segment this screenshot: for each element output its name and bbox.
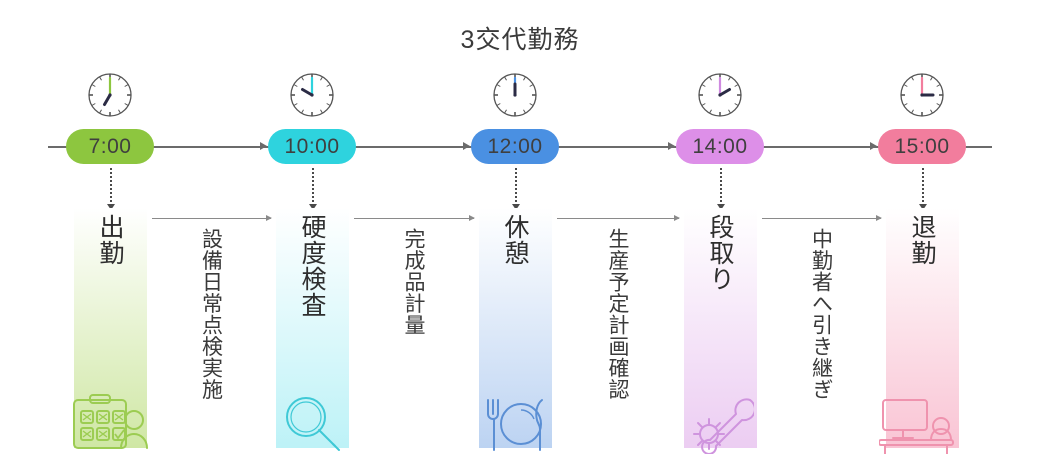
- drop-connector: [312, 168, 314, 206]
- time-badge-10-00[interactable]: 10:00: [268, 129, 356, 164]
- time-badge-7-00[interactable]: 7:00: [66, 129, 154, 164]
- drop-connector: [515, 168, 517, 206]
- clock-icon-10-00: [285, 68, 339, 122]
- clock-icon-14-00: [693, 68, 747, 122]
- stage-panel-label-wrap: 段取り: [684, 214, 757, 292]
- stage-panel-出勤[interactable]: 出勤: [74, 208, 147, 448]
- drop-connector: [720, 168, 722, 206]
- time-badge-label: 15:00: [894, 135, 949, 159]
- plate-fork-knife-icon: [480, 396, 550, 454]
- stage-panel-label-wrap: 休憩: [479, 214, 552, 266]
- time-badge-15-00[interactable]: 15:00: [878, 129, 966, 164]
- axis-arrowhead: [260, 142, 267, 150]
- stage-panel-label: 段取り: [706, 214, 734, 292]
- magnifying-glass-icon: [281, 392, 343, 454]
- stage-panel-label: 出勤: [96, 214, 124, 266]
- clock-icon-15-00: [895, 68, 949, 122]
- time-badge-12-00[interactable]: 12:00: [471, 129, 559, 164]
- connector-line: [762, 218, 881, 219]
- connector-label: 完成品計量: [402, 228, 425, 336]
- axis-arrowhead: [463, 142, 470, 150]
- connector-arrow: [557, 218, 679, 219]
- desk-computer-icon: [879, 396, 965, 454]
- stage-panel-退勤[interactable]: 退勤: [886, 208, 959, 448]
- connector-label: 中勤者へ引き継ぎ: [809, 228, 832, 400]
- axis-arrowhead: [668, 142, 675, 150]
- stage-panel-label: 休憩: [501, 214, 529, 266]
- stage-panel-label-wrap: 硬度検査: [276, 214, 349, 318]
- drop-connector: [110, 168, 112, 206]
- connector-line: [557, 218, 679, 219]
- connector-arrowhead: [266, 215, 272, 221]
- stage-panel-休憩[interactable]: 休憩: [479, 208, 552, 448]
- connector-line: [152, 218, 271, 219]
- connector-line: [354, 218, 474, 219]
- wrench-gear-icon: [686, 394, 754, 454]
- stage-panel-段取り[interactable]: 段取り: [684, 208, 757, 448]
- axis-arrowhead: [870, 142, 877, 150]
- connector-label-wrap: 設備日常点検実施: [156, 228, 266, 400]
- stage-panel-label: 退勤: [908, 214, 936, 266]
- clock-icon-7-00: [83, 68, 137, 122]
- connector-label: 生産予定計画確認: [606, 228, 629, 400]
- connector-arrow: [152, 218, 271, 219]
- stage-panel-label-wrap: 退勤: [886, 214, 959, 266]
- time-badge-label: 12:00: [487, 135, 542, 159]
- connector-arrow: [354, 218, 474, 219]
- time-badge-14-00[interactable]: 14:00: [676, 129, 764, 164]
- connector-arrow: [762, 218, 881, 219]
- clipboard-checklist-person-icon: [71, 392, 149, 454]
- drop-connector: [922, 168, 924, 206]
- connector-label-wrap: 完成品計量: [359, 228, 469, 336]
- connector-arrowhead: [469, 215, 475, 221]
- clock-icon-12-00: [488, 68, 542, 122]
- connector-arrowhead: [876, 215, 882, 221]
- stage-panel-硬度検査[interactable]: 硬度検査: [276, 208, 349, 448]
- time-badge-label: 14:00: [692, 135, 747, 159]
- stage-panel-label-wrap: 出勤: [74, 214, 147, 266]
- time-badge-label: 10:00: [284, 135, 339, 159]
- connector-label: 設備日常点検実施: [199, 228, 222, 400]
- connector-label-wrap: 生産予定計画確認: [563, 228, 673, 400]
- connector-label-wrap: 中勤者へ引き継ぎ: [766, 228, 876, 400]
- connector-arrowhead: [674, 215, 680, 221]
- time-badge-label: 7:00: [89, 135, 132, 159]
- page-title: 3交代勤務: [0, 20, 1040, 56]
- stage-panel-label: 硬度検査: [298, 214, 326, 318]
